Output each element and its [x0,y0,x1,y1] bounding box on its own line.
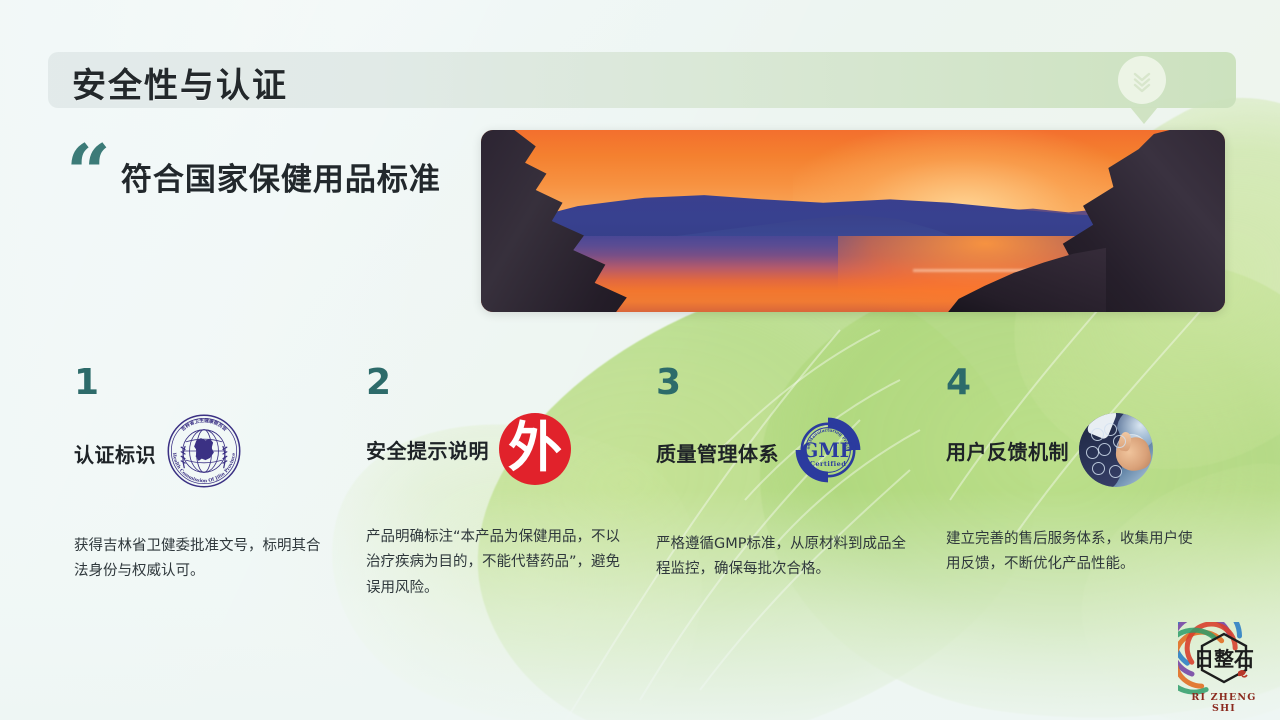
photo-ui-dot [1091,428,1104,441]
feature-column-1: 1 认证标识 [74,365,342,585]
svg-text:GMP: GMP [802,439,854,462]
column-description: 产品明确标注“本产品为保健用品，不以治疗疾病为目的，不能代替药品”，避免误用风险… [366,525,624,601]
column-title: 质量管理体系 [656,438,779,467]
external-use-badge-label: 外 [508,421,562,475]
photo-ui-dot [1098,443,1111,456]
column-title: 用户反馈机制 [946,436,1069,465]
feature-columns: 1 认证标识 [0,0,1280,720]
column-description: 建立完善的售后服务体系，收集用户使用反馈，不断优化产品性能。 [946,527,1198,578]
column-header-row: 用户反馈机制 [946,413,1214,487]
external-use-red-badge-icon: 外 [499,413,571,485]
column-header-row: 安全提示说明 外 [366,413,634,485]
column-header-row: 认证标识 [74,413,342,494]
column-title: 安全提示说明 [366,435,489,464]
column-title: 认证标识 [74,439,156,468]
brand-mark-text: 日整石 [1194,647,1254,671]
feature-column-2: 2 安全提示说明 外 产品明确标注“本产品为保健用品，不以治疗疾病为目的，不能代… [366,365,634,601]
svg-text:Certified: Certified [810,460,847,468]
column-description: 获得吉林省卫健委批准文号，标明其合法身份与权威认可。 [74,534,326,585]
feature-column-4: 4 用户反馈机制 建立完善的售后服务体系，收集用户使用反馈，不断优化产品性能。 [946,365,1214,578]
column-number: 3 [656,365,924,401]
column-header-row: 质量管理体系 Good Manufacturing Practice GMP C… [656,413,924,492]
user-feedback-photo-icon [1079,413,1153,487]
brand-name: RI ZHENG SHI [1178,692,1270,714]
jilin-health-commission-emblem-icon: 吉林省卫生健康委员会 Health Commission Of Jilin Pr… [166,413,242,494]
brand-logo: 日整石 RI ZHENG SHI [1178,622,1270,714]
brand-swoosh-icon: 日整石 [1178,622,1270,700]
gmp-certified-icon: Good Manufacturing Practice GMP Certifie… [789,413,867,492]
column-number: 4 [946,365,1214,401]
feature-column-3: 3 质量管理体系 Good Manufacturing Practice GMP… [656,365,924,583]
column-number: 1 [74,365,342,401]
column-description: 严格遵循GMP标准，从原材料到成品全程监控，确保每批次合格。 [656,532,908,583]
column-number: 2 [366,365,634,401]
photo-ui-dot [1109,465,1122,478]
